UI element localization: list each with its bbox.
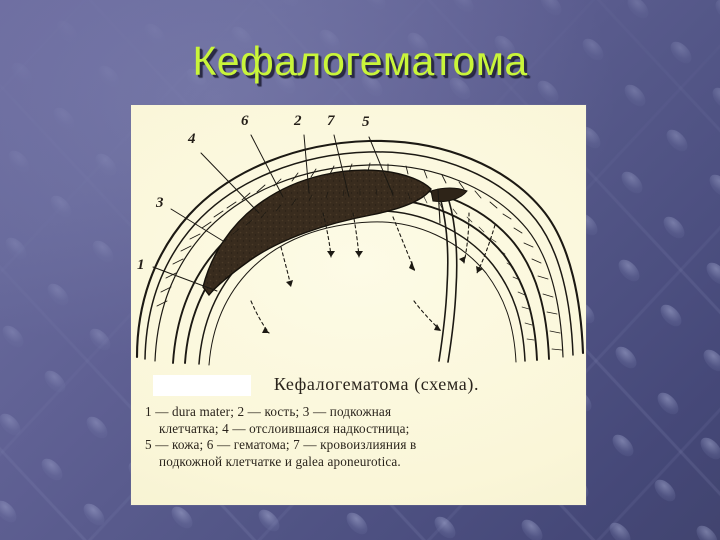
page-title: Кефалогематома	[0, 38, 720, 85]
callout-number-4: 4	[188, 131, 196, 148]
callout-number-5: 5	[362, 114, 370, 131]
legend-line-1: 1 — dura mater; 2 — кость; 3 — подкожная	[145, 404, 572, 421]
legend-line-3: 5 — кожа; 6 — гематома; 7 — кровоизлияни…	[145, 437, 572, 454]
callout-number-2: 2	[294, 113, 302, 130]
callout-number-7: 7	[327, 113, 335, 130]
figure-caption-area: Кефалогематома (схема). 1 — dura mater; …	[131, 367, 586, 505]
legend-line-2: клетчатка; 4 — отслоившаяся надкостница;	[145, 421, 572, 438]
figure-panel: 4 6 2 7 5 3 1 Кефалогематома (схема). 1 …	[131, 105, 586, 505]
slide-canvas: Кефалогематома	[0, 0, 720, 540]
figure-caption-title: Кефалогематома (схема).	[145, 374, 572, 395]
figure-legend: 1 — dura mater; 2 — кость; 3 — подкожная…	[145, 404, 572, 470]
callout-number-6: 6	[241, 113, 249, 130]
diagram-svg	[131, 105, 586, 367]
callout-number-1: 1	[137, 257, 145, 274]
legend-line-4: подкожной клетчатке и galea aponeurotica…	[145, 454, 572, 471]
callout-number-3: 3	[156, 195, 164, 212]
cephalohematoma-diagram: 4 6 2 7 5 3 1	[131, 105, 586, 367]
